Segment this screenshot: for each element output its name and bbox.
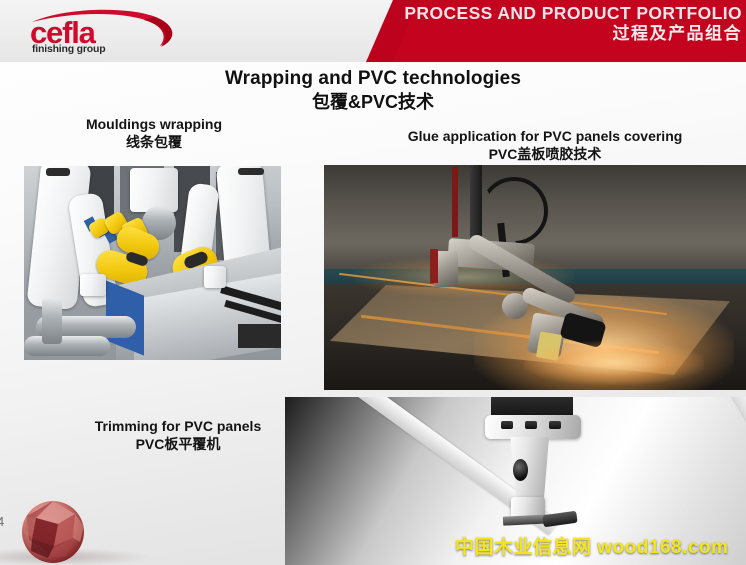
cefla-logo: cefla finishing group (18, 6, 193, 56)
caption-trimming-cn: PVC板平覆机 (58, 436, 298, 453)
caption-mouldings-en: Mouldings wrapping (34, 116, 274, 133)
logo-subtitle: finishing group (32, 43, 105, 55)
header-title-block: PROCESS AND PRODUCT PORTFOLIO 过程及产品组合 (392, 4, 742, 43)
header-title-en: PROCESS AND PRODUCT PORTFOLIO (392, 4, 742, 23)
slide-title-cn: 包覆&PVC技术 (0, 92, 746, 113)
header-title-cn: 过程及产品组合 (392, 25, 742, 43)
caption-glue-en: Glue application for PVC panels covering (350, 128, 740, 145)
slide-title-block: Wrapping and PVC technologies 包覆&PVC技术 (0, 68, 746, 114)
caption-trimming-en: Trimming for PVC panels (58, 418, 298, 435)
caption-trimming: Trimming for PVC panels PVC板平覆机 (58, 418, 298, 453)
slide-title-en: Wrapping and PVC technologies (0, 68, 746, 90)
caption-glue-cn: PVC盖板喷胶技术 (350, 146, 740, 163)
caption-mouldings-wrapping: Mouldings wrapping 线条包覆 (34, 116, 274, 151)
photo-glue-application (324, 165, 746, 390)
red-gem-decoration (18, 496, 88, 565)
caption-mouldings-cn: 线条包覆 (34, 134, 274, 151)
site-watermark: 中国木业信息网 wood168.com (455, 532, 728, 559)
page-number: 4 (0, 514, 4, 529)
caption-glue-application: Glue application for PVC panels covering… (350, 128, 740, 163)
photo-mouldings-wrapping (24, 166, 281, 360)
presentation-slide: PROCESS AND PRODUCT PORTFOLIO 过程及产品组合 ce… (0, 0, 746, 565)
